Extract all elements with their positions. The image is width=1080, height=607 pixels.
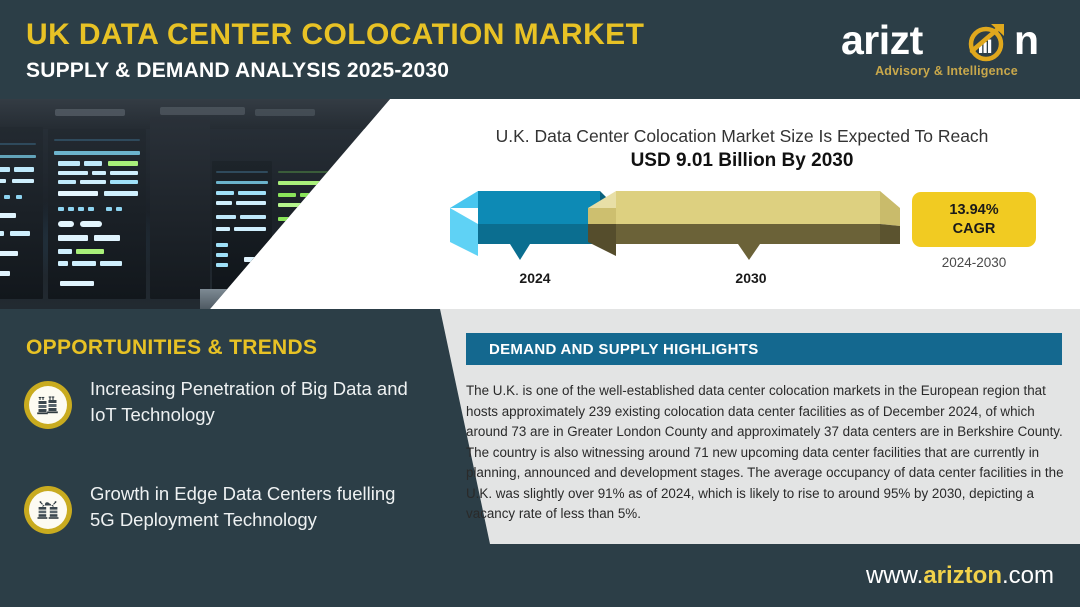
- bar-2024: [450, 186, 610, 266]
- logo-text-part2: n: [1014, 17, 1039, 63]
- highlights-title-bar: DEMAND AND SUPPLY HIGHLIGHTS: [466, 333, 1062, 365]
- logo-wordmark: arizt n: [839, 17, 1054, 63]
- chart-headline: U.K. Data Center Colocation Market Size …: [452, 126, 1032, 147]
- chart-value-line: USD 9.01 Billion By 2030: [452, 150, 1032, 173]
- infographic-canvas: UK DATA CENTER COLOCATION MARKET SUPPLY …: [0, 0, 1080, 607]
- cagr-value: 13.94%: [949, 201, 998, 219]
- logo-tagline: Advisory & Intelligence: [839, 64, 1054, 78]
- bar-2030: [588, 186, 908, 266]
- cagr-label: CAGR: [953, 220, 996, 238]
- cagr-period: 2024-2030: [912, 255, 1036, 270]
- edge-cloud-glyph: [36, 498, 60, 522]
- arizton-logo: arizt n Advisory & Intelligence: [839, 17, 1054, 85]
- opportunity-text-2: Growth in Edge Data Centers fuelling 5G …: [90, 481, 420, 534]
- bar-label-2030: 2030: [706, 270, 796, 286]
- bar-label-2024: 2024: [490, 270, 580, 286]
- edge-server-cloud-icon: [24, 486, 72, 534]
- page-subtitle: SUPPLY & DEMAND ANALYSIS 2025-2030: [26, 60, 449, 81]
- url-prefix: www.: [866, 562, 923, 589]
- cagr-badge: 13.94% CAGR: [912, 192, 1036, 247]
- url-suffix: .com: [1002, 562, 1054, 589]
- logo-text-part1: arizt: [841, 17, 923, 63]
- url-brand: arizton: [923, 562, 1002, 589]
- opportunities-heading: OPPORTUNITIES & TRENDS: [26, 336, 317, 360]
- server-rack-icon: [24, 381, 72, 429]
- server-rack-glyph: [36, 393, 60, 417]
- footer-website-url[interactable]: www.arizton.com: [866, 562, 1054, 590]
- highlights-title: DEMAND AND SUPPLY HIGHLIGHTS: [489, 341, 759, 358]
- page-title: UK DATA CENTER COLOCATION MARKET: [26, 20, 644, 50]
- opportunity-text-1: Increasing Penetration of Big Data and I…: [90, 376, 420, 429]
- logo-chart-arrow-icon: [966, 21, 1008, 63]
- highlights-body-text: The U.K. is one of the well-established …: [466, 381, 1064, 525]
- header-bar: UK DATA CENTER COLOCATION MARKET SUPPLY …: [0, 0, 1080, 99]
